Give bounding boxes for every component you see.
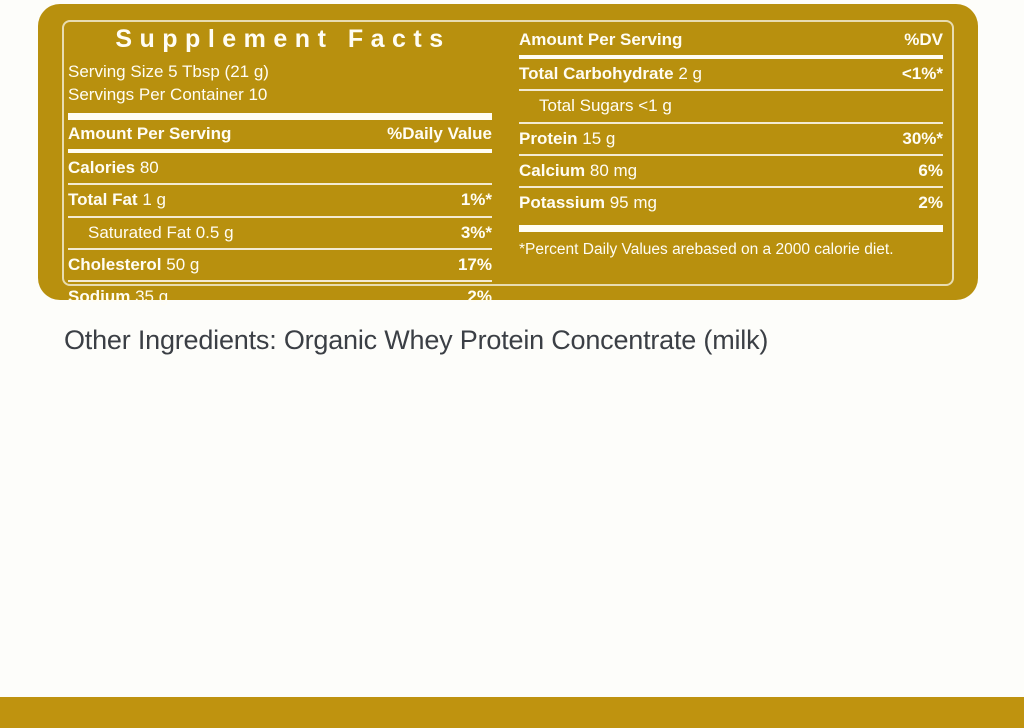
nutrient-amount: 95 mg: [610, 193, 657, 212]
panel-columns: Supplement Facts Serving Size 5 Tbsp (21…: [68, 26, 948, 284]
right-header-dv-label: %DV: [904, 30, 943, 50]
nutrient-name: Total Carbohydrate: [519, 64, 674, 83]
table-row: Protein 15 g 30%*: [519, 124, 943, 154]
footnote-top-rule: [519, 225, 943, 232]
nutrient-amount: 80: [140, 158, 159, 177]
nutrient-amount: 1 g: [142, 190, 166, 209]
serving-size-line: Serving Size 5 Tbsp (21 g): [68, 61, 492, 83]
nutrient-label: Cholesterol 50 g: [68, 254, 199, 275]
nutrient-label: Total Sugars <1 g: [519, 95, 672, 116]
servings-per-container-line: Servings Per Container 10: [68, 84, 492, 106]
supplement-facts-title: Supplement Facts: [68, 26, 492, 52]
nutrient-dv: 2%: [455, 286, 492, 307]
nutrient-dv: <1%*: [890, 63, 943, 84]
nutrient-label: Sodium 35 g: [68, 286, 168, 307]
nutrient-name: Potassium: [519, 193, 605, 212]
nutrient-dv: 17%: [446, 254, 492, 275]
left-column: Supplement Facts Serving Size 5 Tbsp (21…: [68, 26, 492, 284]
daily-value-footnote: *Percent Daily Values arebased on a 2000…: [519, 232, 943, 260]
nutrient-label: Total Fat 1 g: [68, 189, 166, 210]
right-header-amount-label: Amount Per Serving: [519, 30, 682, 50]
supplement-label-page: Supplement Facts Serving Size 5 Tbsp (21…: [0, 0, 1024, 728]
nutrient-label: Calcium 80 mg: [519, 160, 637, 181]
nutrient-amount: 50 g: [166, 255, 199, 274]
table-row: Calories 80: [68, 153, 492, 183]
nutrient-label: Protein 15 g: [519, 128, 615, 149]
nutrient-dv: 3%*: [449, 222, 492, 243]
table-row: Total Sugars <1 g: [519, 91, 943, 121]
other-ingredients-text: Other Ingredients: Organic Whey Protein …: [64, 325, 768, 356]
nutrient-dv: 6%: [906, 160, 943, 181]
nutrient-amount: 15 g: [582, 129, 615, 148]
nutrient-label: Potassium 95 mg: [519, 192, 657, 213]
table-row: Sodium 35 g 2%: [68, 282, 492, 312]
table-row: Total Carbohydrate 2 g <1%*: [519, 59, 943, 89]
nutrient-dv: 1%*: [449, 189, 492, 210]
nutrient-amount: 80 mg: [590, 161, 637, 180]
table-row: Calcium 80 mg 6%: [519, 156, 943, 186]
supplement-facts-panel: Supplement Facts Serving Size 5 Tbsp (21…: [38, 4, 978, 300]
nutrient-dv: 30%*: [890, 128, 943, 149]
nutrient-label: Total Carbohydrate 2 g: [519, 63, 702, 84]
table-row: Potassium 95 mg 2%: [519, 188, 943, 218]
nutrient-name: Calcium: [519, 161, 585, 180]
nutrient-dv: 2%: [906, 192, 943, 213]
left-header-top-rule: [68, 113, 492, 120]
nutrient-amount: 35 g: [135, 287, 168, 306]
left-header-amount-label: Amount Per Serving: [68, 124, 231, 144]
table-row: Saturated Fat 0.5 g 3%*: [68, 218, 492, 248]
nutrient-name: Protein: [519, 129, 578, 148]
right-column-header: Amount Per Serving %DV: [519, 26, 943, 55]
left-column-header: Amount Per Serving %Daily Value: [68, 120, 492, 149]
nutrient-label: Saturated Fat 0.5 g: [68, 222, 234, 243]
nutrient-label: Calories 80: [68, 157, 159, 178]
left-header-dv-label: %Daily Value: [387, 124, 492, 144]
nutrient-amount: 2 g: [678, 64, 702, 83]
right-column: Amount Per Serving %DV Total Carbohydrat…: [519, 26, 943, 284]
table-row: Cholesterol 50 g 17%: [68, 250, 492, 280]
nutrient-name: Sodium: [68, 287, 130, 306]
table-row: Total Fat 1 g 1%*: [68, 185, 492, 215]
footer-bar: [0, 697, 1024, 728]
nutrient-name: Cholesterol: [68, 255, 162, 274]
nutrient-name: Calories: [68, 158, 135, 177]
nutrient-name: Total Fat: [68, 190, 138, 209]
